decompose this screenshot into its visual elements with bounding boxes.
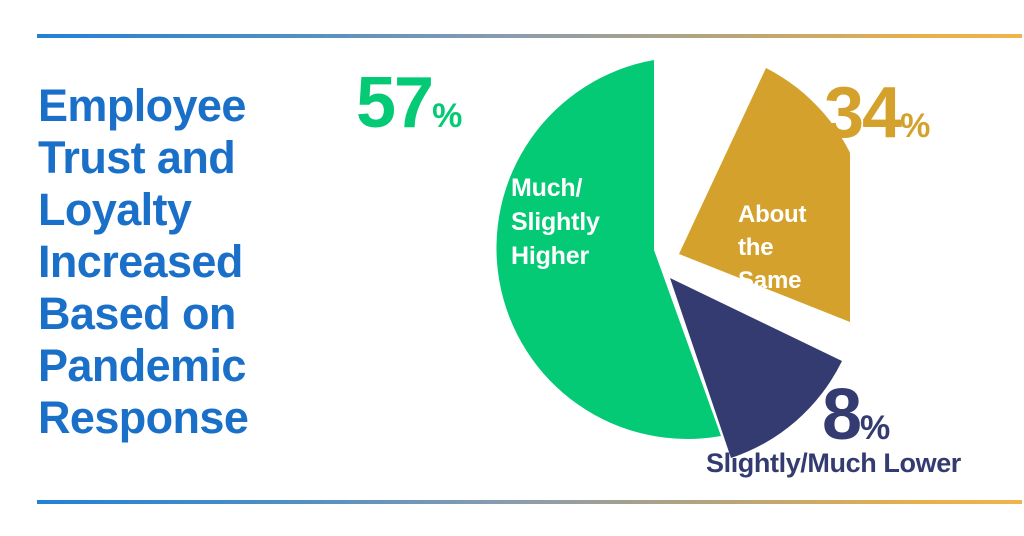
- pie-slice-label-about-the-same: About the Same: [738, 198, 806, 297]
- pie-value-number-green: 57: [356, 63, 432, 143]
- percent-symbol-navy: %: [860, 409, 889, 447]
- bottom-divider-rule: [37, 500, 1022, 504]
- percent-symbol-gold: %: [900, 107, 929, 145]
- pie-value-number-gold: 34: [824, 73, 900, 153]
- pie-value-number-navy: 8: [822, 375, 860, 455]
- pie-slice-label-slightly-much-lower: Slightly/Much Lower: [706, 448, 961, 479]
- infographic-canvas: Employee Trust and Loyalty Increased Bas…: [0, 0, 1024, 536]
- pie-value-much-slightly-higher: 57%: [356, 62, 461, 144]
- pie-value-about-the-same: 34%: [824, 72, 929, 154]
- percent-symbol-green: %: [432, 97, 461, 135]
- pie-chart: Much/ Slightly Higher About the Same 57%…: [0, 0, 1024, 536]
- pie-value-slightly-much-lower: 8%: [822, 374, 889, 456]
- pie-slice-label-much-slightly-higher: Much/ Slightly Higher: [511, 171, 600, 273]
